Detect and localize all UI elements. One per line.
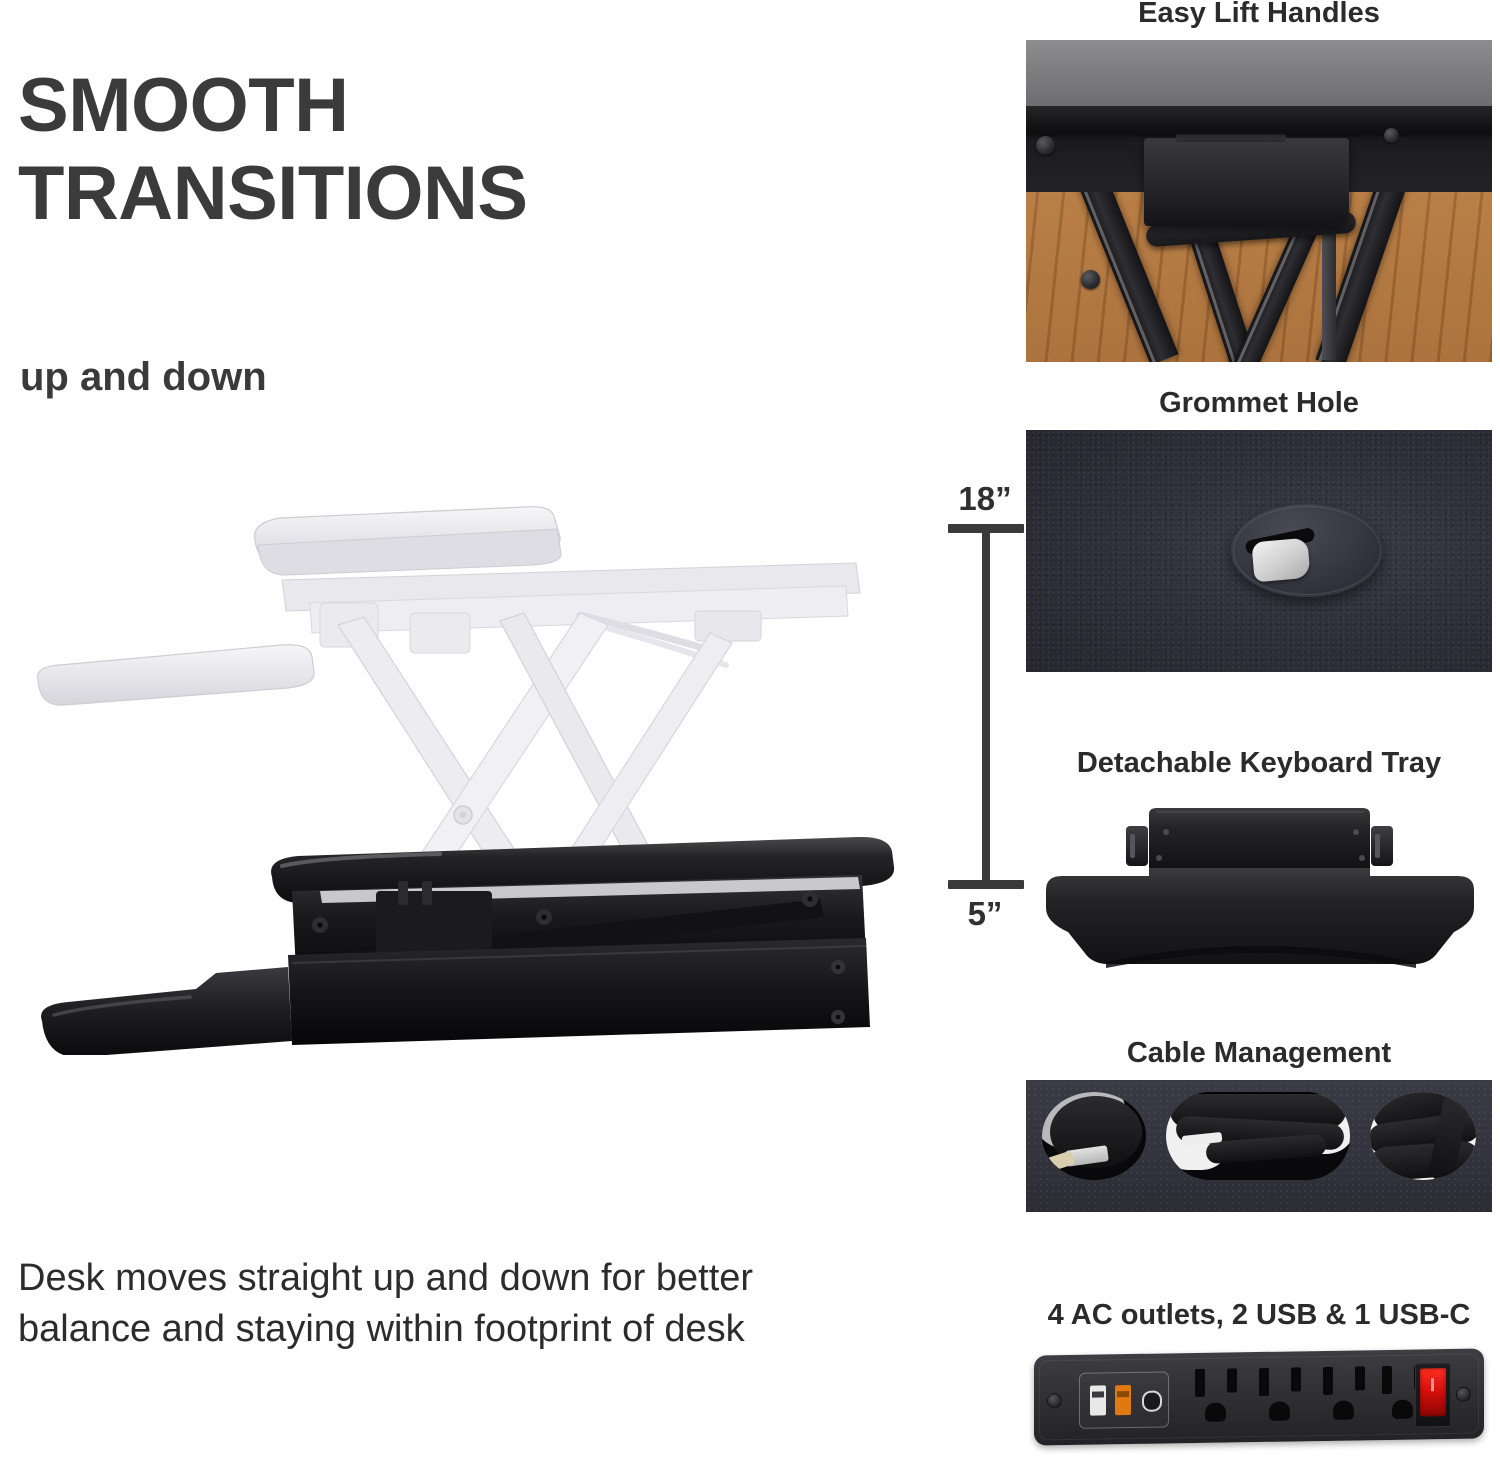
feature-detachable-keyboard-tray: Detachable Keyboard Tray	[1022, 748, 1496, 990]
tray-rear-plate	[1149, 808, 1370, 868]
lift-handle-icon	[1144, 138, 1349, 226]
screw-icon	[1036, 136, 1055, 155]
dimension-cap-bottom	[948, 880, 1024, 889]
feature-easy-lift-handles: Easy Lift Handles	[1022, 0, 1496, 362]
ac-outlet-icon[interactable]	[1251, 1367, 1313, 1426]
usb-c-port-icon[interactable]	[1142, 1390, 1162, 1411]
product-illustration	[20, 485, 920, 1055]
power-strip-body	[1034, 1348, 1484, 1445]
screw-icon	[1156, 855, 1162, 861]
ac-outlet-icon[interactable]	[1315, 1366, 1377, 1425]
grommet-cap-icon	[1231, 504, 1383, 597]
headline-line-2: TRANSITIONS	[18, 150, 818, 238]
usb-a-port-icon[interactable]	[1090, 1385, 1106, 1415]
screw-icon	[1353, 829, 1359, 835]
screw-icon	[1384, 128, 1399, 143]
power-switch-rocker[interactable]	[1420, 1368, 1446, 1416]
screw-icon	[1359, 855, 1365, 861]
screw-icon	[1456, 1387, 1471, 1402]
screw-icon	[1047, 1393, 1062, 1408]
cable-cutout-icon	[1042, 1092, 1146, 1180]
power-switch[interactable]	[1415, 1363, 1451, 1428]
photo-cable-management	[1026, 1080, 1492, 1212]
standing-desk-converter-diagram	[20, 485, 920, 1055]
feature-power-strip: 4 AC outlets, 2 USB & 1 USB-C	[1022, 1300, 1496, 1454]
description-text: Desk moves straight up and down for bett…	[18, 1253, 758, 1355]
solid-lowered-desk	[41, 837, 894, 1055]
feature-title-power-strip: 4 AC outlets, 2 USB & 1 USB-C	[1022, 1300, 1496, 1332]
desktop-surface	[1026, 40, 1492, 106]
keyboard-tray-graphic	[1026, 790, 1492, 990]
page-title: SMOOTH TRANSITIONS	[18, 62, 818, 238]
feature-title-grommet-hole: Grommet Hole	[1022, 388, 1496, 420]
infographic-page: SMOOTH TRANSITIONS up and down	[0, 0, 1500, 1482]
ac-outlet-icon[interactable]	[1187, 1368, 1249, 1427]
photo-power-strip	[1026, 1342, 1492, 1454]
photo-detachable-keyboard-tray	[1026, 790, 1492, 990]
mount-clip-icon	[1371, 826, 1393, 866]
feature-grommet-hole: Grommet Hole	[1022, 388, 1496, 672]
power-switch-indicator	[1431, 1378, 1434, 1391]
photo-easy-lift-handles	[1026, 40, 1492, 362]
mount-clip-icon	[1126, 826, 1148, 866]
feature-cable-management: Cable Management	[1022, 1038, 1496, 1212]
usb-port-group[interactable]	[1079, 1371, 1169, 1428]
feature-title-cable-management: Cable Management	[1022, 1038, 1496, 1070]
screw-icon	[1081, 270, 1100, 289]
usb-a-fastcharge-port-icon[interactable]	[1115, 1385, 1131, 1415]
screw-icon	[1163, 829, 1169, 835]
feature-title-detachable-keyboard-tray: Detachable Keyboard Tray	[1022, 748, 1496, 780]
dimension-stem	[982, 528, 990, 884]
grommet-notch-icon	[1251, 538, 1310, 583]
headline-line-1: SMOOTH	[18, 63, 349, 148]
feature-title-easy-lift-handles: Easy Lift Handles	[1022, 0, 1496, 30]
cable-cutout-icon	[1370, 1092, 1476, 1180]
desktop-edge-band	[1026, 102, 1492, 134]
photo-grommet-hole	[1026, 430, 1492, 672]
subheadline: up and down	[20, 355, 267, 400]
cable-cutout-icon	[1166, 1092, 1350, 1180]
